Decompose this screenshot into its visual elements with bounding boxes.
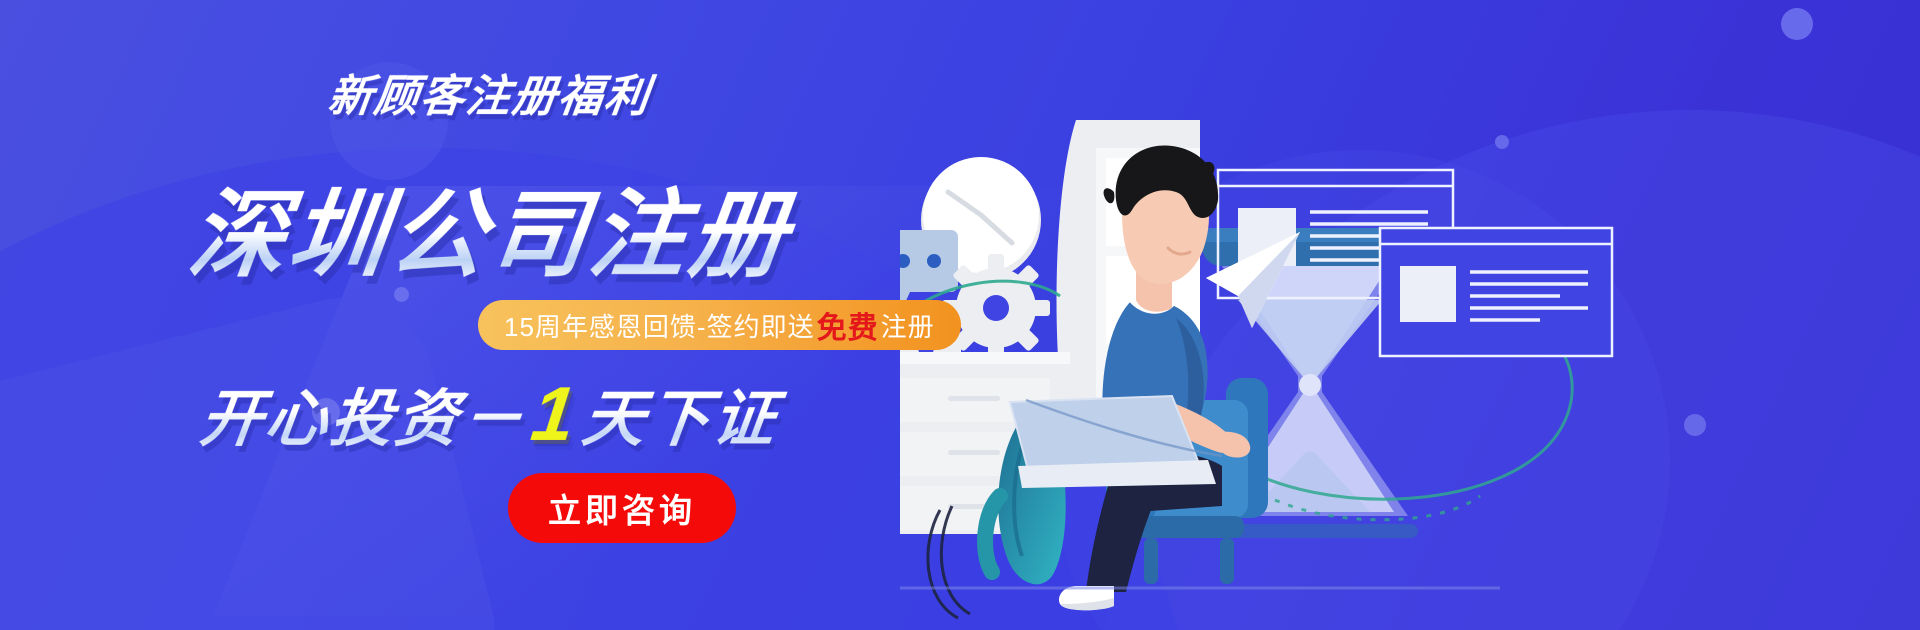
page-title: 深圳公司注册: [0, 182, 987, 290]
consult-now-button[interactable]: 立即咨询: [508, 473, 736, 543]
badge-prefix-text: 15周年感恩回馈-签约即送: [504, 307, 815, 344]
subline-after-text: 天下证: [579, 385, 782, 454]
promo-copy: 新顾客注册福利 深圳公司注册 15周年感恩回馈-签约即送免费注册 开心投资－1天…: [0, 0, 980, 630]
subline-number: 1: [521, 372, 589, 457]
hero-illustration: [900, 0, 1920, 630]
document-card-icon: [1380, 228, 1612, 356]
badge-suffix-text: 注册: [881, 307, 935, 344]
subline-before-text: 开心投资－: [196, 385, 529, 454]
promo-banner: 新顾客注册福利 深圳公司注册 15周年感恩回馈-签约即送免费注册 开心投资－1天…: [0, 0, 1920, 630]
badge-highlight-text: 免费: [815, 303, 881, 347]
promo-badge: 15周年感恩回馈-签约即送免费注册: [478, 300, 961, 350]
sub-headline: 开心投资－1天下证: [0, 368, 986, 458]
eyebrow-text: 新顾客注册福利: [0, 60, 984, 124]
